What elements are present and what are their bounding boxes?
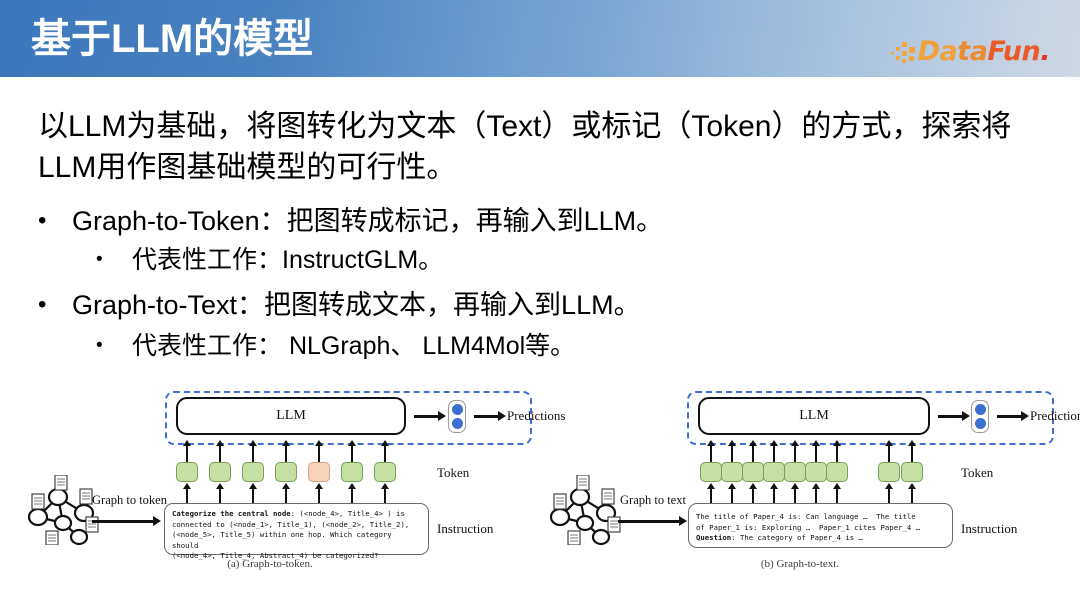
instruction-box: The title of Paper_4 is: Can language … … [688, 503, 953, 548]
bullet-dot-icon: • [38, 204, 72, 238]
logo-text-fun: Fun [987, 38, 1040, 65]
intro-paragraph: 以LLM为基础，将图转化为文本（Text）或标记（Token）的方式，探索将LL… [38, 106, 1028, 188]
logo-text-da: Da [918, 38, 958, 65]
token-box [742, 462, 764, 482]
instruction-line-1: The title of Paper_4 is: Can language … … [696, 512, 916, 521]
slide-header: 基于LLM的模型 Da ta Fun . [0, 0, 1080, 77]
bullet-instructglm: • 代表性工作：InstructGLM。 [96, 244, 1036, 276]
token-box [805, 462, 827, 482]
llm-box: LLM [698, 397, 930, 435]
token-box [763, 462, 785, 482]
page-title: 基于LLM的模型 [31, 17, 313, 61]
datafun-logo: Da ta Fun . [891, 36, 1050, 66]
token-box [374, 462, 396, 482]
conversion-label: Graph to text [620, 493, 686, 508]
token-box-highlighted [308, 462, 330, 482]
token-box [784, 462, 806, 482]
token-box [901, 462, 923, 482]
bullet-graph-to-text: • Graph-to-Text：把图转成文本，再输入到LLM。 [38, 288, 1038, 322]
figure-caption: (b) Graph-to-text. [530, 558, 1070, 570]
instruction-line-2: of Paper_1 is: Exploring … Paper_1 cites… [696, 523, 920, 532]
instruction-box: Categorize the central node: (<node_4>, … [164, 503, 429, 555]
instruction-bold-text: Question [696, 533, 731, 542]
llm-to-prediction-arrow [414, 415, 439, 418]
logo-dots-icon [891, 39, 917, 63]
token-box [826, 462, 848, 482]
bullet-label: Graph-to-Token：把图转成标记，再输入到LLM。 [72, 204, 663, 238]
predictions-label: Predictions [1030, 408, 1080, 424]
instruction-bold-text: Categorize the central node [172, 509, 291, 518]
token-label: Token [437, 465, 469, 481]
token-box [275, 462, 297, 482]
logo-text-dot: . [1040, 38, 1050, 65]
figure-panel: LLM Predictions Token Categorize [0, 375, 1080, 608]
bullet-label: 代表性工作：InstructGLM。 [132, 244, 443, 276]
bullet-dot-icon: • [38, 288, 72, 322]
token-box [242, 462, 264, 482]
prediction-out-arrow [474, 415, 499, 418]
token-label: Token [961, 465, 993, 481]
bullet-graph-to-token: • Graph-to-Token：把图转成标记，再输入到LLM。 [38, 204, 1038, 238]
token-box [878, 462, 900, 482]
token-box [341, 462, 363, 482]
bullet-nlgraph-llm4mol: • 代表性工作： NLGraph、 LLM4Mol等。 [96, 330, 1036, 362]
token-box [700, 462, 722, 482]
llm-to-prediction-arrow [938, 415, 963, 418]
bullet-label: 代表性工作： NLGraph、 LLM4Mol等。 [132, 330, 575, 362]
token-box [209, 462, 231, 482]
figure-caption: (a) Graph-to-token. [0, 558, 540, 570]
prediction-pill-icon [971, 400, 989, 433]
graph-to-instruction-arrow [92, 520, 154, 523]
bullet-label: Graph-to-Text：把图转成文本，再输入到LLM。 [72, 288, 641, 322]
conversion-label: Graph to token [92, 493, 167, 508]
logo-text-ta: ta [957, 38, 987, 65]
bullet-dot-icon: • [96, 330, 132, 362]
bullet-dot-icon: • [96, 244, 132, 276]
instruction-label: Instruction [961, 521, 1017, 537]
llm-box: LLM [176, 397, 406, 435]
figure-graph-to-text: LLM Predictions Token [530, 375, 1070, 608]
instruction-label: Instruction [437, 521, 493, 537]
token-box [176, 462, 198, 482]
prediction-out-arrow [997, 415, 1022, 418]
graph-to-instruction-arrow [618, 520, 680, 523]
graph-nodes-icon [22, 475, 114, 545]
instruction-line-3: : The category of Paper_4 is … [731, 533, 863, 542]
graph-nodes-icon [544, 475, 636, 545]
prediction-pill-icon [448, 400, 466, 433]
token-box [721, 462, 743, 482]
figure-graph-to-token: LLM Predictions Token Categorize [0, 375, 540, 608]
